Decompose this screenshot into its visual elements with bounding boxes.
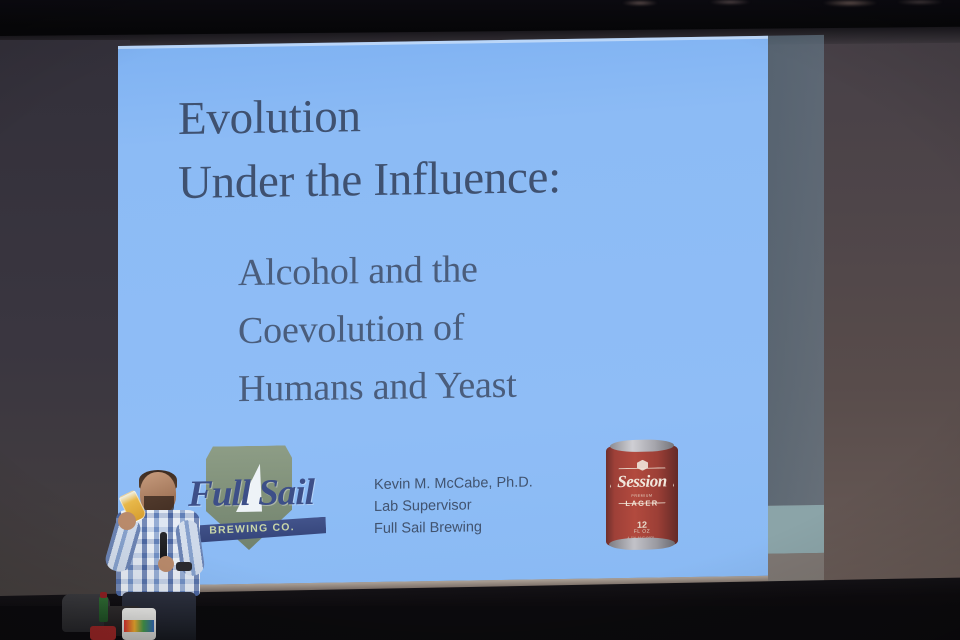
presentation-photo: Evolution Under the Influence: Alcohol a… bbox=[0, 0, 960, 640]
can-brand-name: Session bbox=[610, 471, 674, 492]
screen-teal-patch bbox=[768, 505, 824, 554]
slide-title: Evolution Under the Influence: bbox=[178, 78, 748, 215]
red-case bbox=[90, 626, 116, 640]
green-bottle bbox=[99, 596, 108, 622]
projection-screen: Evolution Under the Influence: Alcohol a… bbox=[118, 35, 824, 594]
bottle-cap bbox=[100, 592, 107, 598]
subtitle-line-2: Coevolution of bbox=[238, 294, 758, 360]
session-beer-can: Session PREMIUM LAGER 12 FL OZ 4.5% ALC.… bbox=[606, 437, 678, 554]
title-line-1: Evolution bbox=[178, 78, 748, 151]
presenter-left-hand bbox=[118, 512, 136, 530]
can-bottom-rim bbox=[609, 537, 675, 550]
slide-subtitle: Alcohol and the Coevolution of Humans an… bbox=[238, 236, 758, 418]
presenter-role: Lab Supervisor bbox=[374, 493, 533, 517]
jug-label bbox=[124, 620, 154, 632]
presenter-organization: Full Sail Brewing bbox=[374, 515, 533, 539]
subtitle-line-3: Humans and Yeast bbox=[238, 352, 758, 418]
screen-shadow-strip bbox=[768, 35, 824, 506]
presenter-credit: Kevin M. McCabe, Ph.D. Lab Supervisor Fu… bbox=[374, 471, 533, 539]
slide-content: Evolution Under the Influence: Alcohol a… bbox=[118, 36, 768, 586]
ceiling-lights-glint bbox=[600, 0, 960, 10]
can-style-label: LAGER bbox=[610, 498, 674, 508]
presenter-name: Kevin M. McCabe, Ph.D. bbox=[374, 471, 533, 495]
wristwatch bbox=[176, 562, 192, 571]
title-line-2: Under the Influence: bbox=[178, 142, 748, 215]
can-size-unit: FL OZ bbox=[610, 528, 674, 535]
subtitle-line-1: Alcohol and the bbox=[238, 236, 758, 302]
presenter-right-hand bbox=[158, 556, 174, 572]
